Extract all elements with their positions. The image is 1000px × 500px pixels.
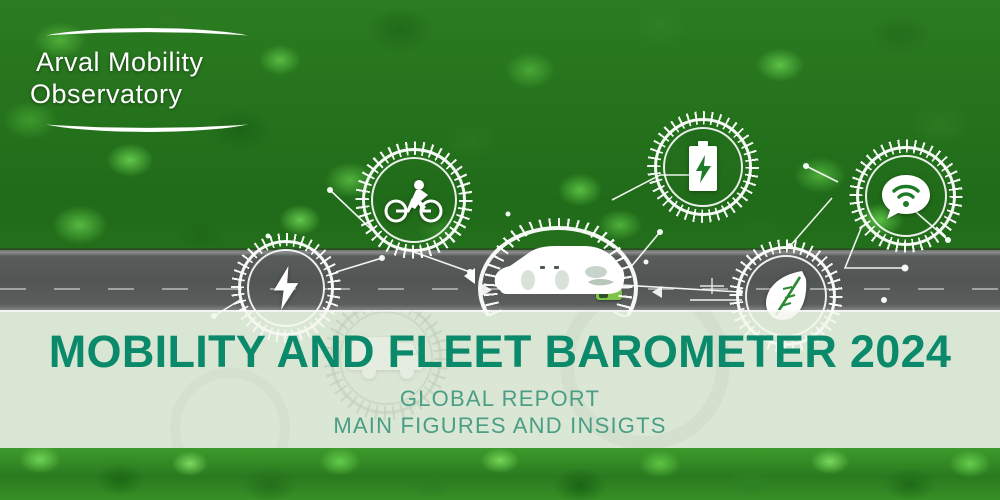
hud-node-connectivity xyxy=(856,146,956,246)
arval-mobility-observatory-logo: Arval Mobility Observatory xyxy=(28,24,268,134)
hud-arrow-left-icon xyxy=(464,268,475,284)
logo-arc-bottom-icon xyxy=(28,116,266,132)
logo-arc-top-icon xyxy=(28,28,266,44)
forest-background-lower xyxy=(0,448,1000,500)
car-icon xyxy=(492,244,626,311)
connectivity-wifi-icon xyxy=(856,146,956,246)
title-banner: MOBILITY AND FLEET BAROMETER 2024 GLOBAL… xyxy=(0,310,1000,448)
subtitle-line-1: GLOBAL REPORT xyxy=(0,386,1000,412)
logo-line-2: Observatory xyxy=(28,78,266,110)
cyclist-icon xyxy=(362,148,466,252)
banner-top-edge xyxy=(0,310,1000,312)
battery-charge-icon xyxy=(654,118,752,216)
hud-node-battery xyxy=(654,118,752,216)
logo-text-block: Arval Mobility Observatory xyxy=(28,46,266,110)
subtitle-line-2: MAIN FIGURES AND INSIGTS xyxy=(0,413,1000,439)
page-title: MOBILITY AND FLEET BAROMETER 2024 xyxy=(0,326,1000,378)
logo-line-1: Arval Mobility xyxy=(28,46,266,78)
hud-node-car xyxy=(478,228,638,318)
hud-node-cyclist xyxy=(362,148,466,252)
poster-canvas: Arval Mobility Observatory xyxy=(0,0,1000,500)
